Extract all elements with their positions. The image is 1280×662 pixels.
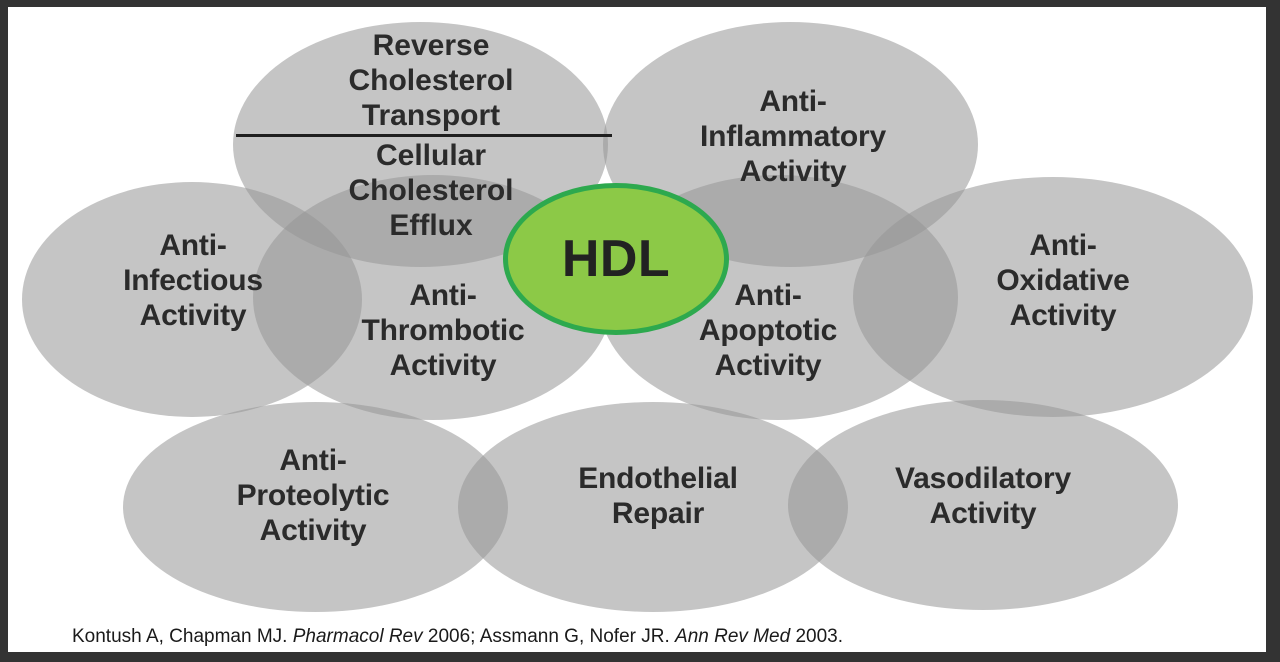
label-divider-rule — [236, 134, 612, 137]
bubble-anti-oxidative — [853, 177, 1253, 417]
label-rct-top: Reverse Cholesterol Transport — [236, 29, 626, 133]
frame-border-bottom — [0, 652, 1280, 662]
hdl-label: HDL — [562, 229, 670, 289]
bubble-vasodilatory — [788, 400, 1178, 610]
frame-border-right — [1266, 0, 1280, 662]
diagram-canvas: Reverse Cholesterol Transport Cellular C… — [8, 7, 1266, 652]
citation-journal-1: Pharmacol Rev — [293, 626, 423, 647]
hdl-center-ellipse: HDL — [503, 183, 729, 335]
citation-year-2: 2003. — [795, 626, 843, 647]
bubble-anti-proteolytic — [123, 402, 508, 612]
figure-page: Reverse Cholesterol Transport Cellular C… — [0, 0, 1280, 662]
citation-journal-2: Ann Rev Med — [675, 626, 790, 647]
citation-year-1: 2006; — [428, 626, 476, 647]
frame-border-top — [0, 0, 1280, 7]
citation-author-1: Kontush A, Chapman MJ. — [72, 626, 287, 647]
frame-border-left — [0, 0, 8, 662]
citation-author-2: Assmann G, Nofer JR. — [480, 626, 670, 647]
citation-line: Kontush A, Chapman MJ. Pharmacol Rev 200… — [72, 626, 843, 648]
